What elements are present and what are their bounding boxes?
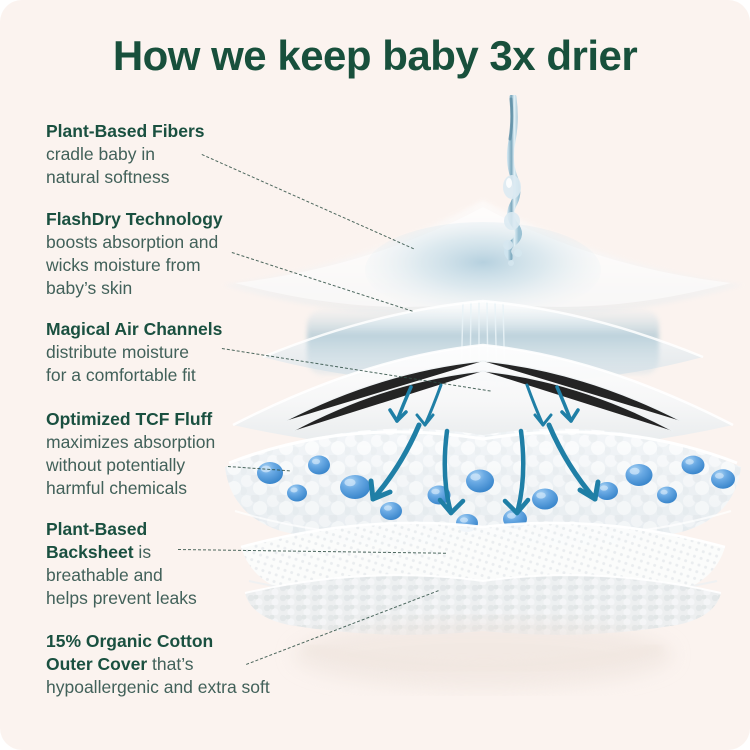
callout-heading: Outer Cover — [46, 654, 147, 674]
callout-optimized-tcf-fluff: Optimized TCF Fluff maximizes absorption… — [46, 408, 215, 500]
callout-line: boosts absorption and — [46, 231, 223, 254]
callout-line: distribute moisture — [46, 341, 222, 364]
callout-line: maximizes absorption — [46, 431, 215, 454]
callout-line: natural softness — [46, 166, 205, 189]
callout-line: harmful chemicals — [46, 477, 215, 500]
callout-line: without potentially — [46, 454, 215, 477]
callout-organic-cotton-outer-cover: 15% Organic Cotton Outer Cover that’s hy… — [46, 630, 270, 699]
infographic-page: How we keep baby 3x drier — [0, 0, 750, 750]
callout-heading: FlashDry Technology — [46, 209, 223, 229]
callout-line: helps prevent leaks — [46, 587, 197, 610]
callout-line: hypoallergenic and extra soft — [46, 676, 270, 699]
callout-line: baby’s skin — [46, 277, 223, 300]
callout-heading-suffix: is — [134, 542, 152, 562]
callout-line: for a comfortable fit — [46, 364, 222, 387]
callout-heading: 15% Organic Cotton — [46, 631, 213, 651]
callout-heading: Optimized TCF Fluff — [46, 409, 212, 429]
callout-heading: Plant-Based Fibers — [46, 121, 205, 141]
callout-heading-suffix: that’s — [147, 654, 193, 674]
callout-heading: Plant-Based — [46, 519, 147, 539]
diaper-layers-illustration — [215, 95, 750, 705]
page-title: How we keep baby 3x drier — [0, 32, 750, 80]
callout-line: wicks moisture from — [46, 254, 223, 277]
callout-line: cradle baby in — [46, 143, 205, 166]
callout-line: breathable and — [46, 564, 197, 587]
water-stream — [503, 97, 522, 266]
callout-magical-air-channels: Magical Air Channels distribute moisture… — [46, 318, 222, 387]
layer-outer-cover — [245, 575, 721, 689]
callout-plant-based-fibers: Plant-Based Fibers cradle baby in natura… — [46, 120, 205, 189]
callout-heading: Magical Air Channels — [46, 319, 222, 339]
callout-flashdry-technology: FlashDry Technology boosts absorption an… — [46, 208, 223, 300]
callout-plant-based-backsheet: Plant-Based Backsheet is breathable and … — [46, 518, 197, 610]
callout-heading: Backsheet — [46, 542, 134, 562]
